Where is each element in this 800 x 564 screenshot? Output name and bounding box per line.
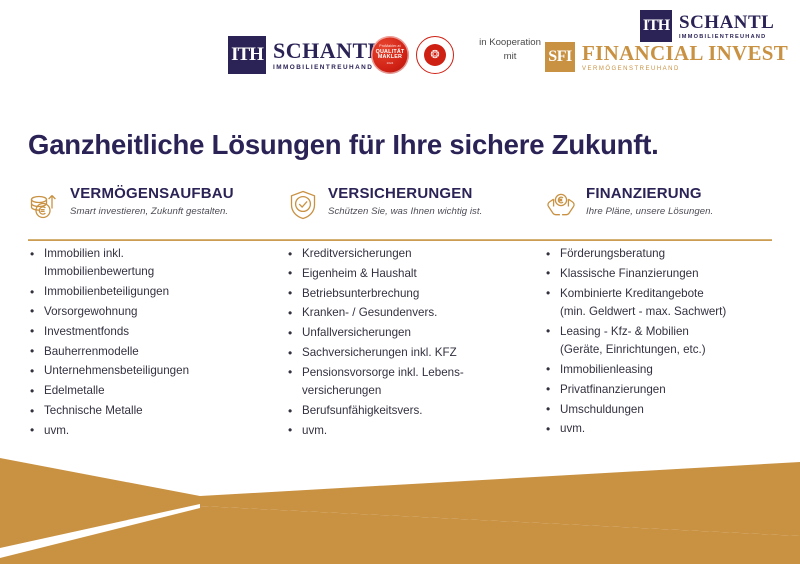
list-item: Leasing - Kfz- & Mobilien (Geräte, Einri… [544,323,796,360]
list-item-line: Leasing - Kfz- & Mobilien [560,325,689,338]
list-item: Förderungsberatung [544,245,796,263]
list-item-line: uvm. [44,424,69,437]
column-header: FINANZIERUNG Ihre Pläne, unsere Lösungen… [544,186,796,228]
list-item-line: Edelmetalle [44,384,105,397]
list-item: Eigenheim & Haushalt [286,265,538,283]
column-finanzierung: FINANZIERUNG Ihre Pläne, unsere Lösungen… [544,186,796,442]
footer-band: Office Wien: Passauer Platz 6 1010 Wien … [0,440,800,564]
sfi-monogram-icon: SFI [545,42,575,72]
footer-shape-decoration [0,440,800,564]
logo-ith-schantl-main: ITH SCHANTL IMMOBILIENTREUHAND [228,36,383,74]
list-item: Kombinierte Kreditangebote (min. Geldwer… [544,285,796,322]
shield-check-icon [286,188,320,222]
column-tagline: Ihre Pläne, unsere Lösungen. [586,206,713,217]
quality-broker-seal-icon: ProMakler.at QUALITÄT MAKLER 2024 [371,36,409,74]
flyer-page: ITH SCHANTL IMMOBILIENTREUHAND ProMakler… [0,0,800,564]
wko-seal-icon: ❂ [416,36,454,74]
column-header: VERSICHERUNGEN Schützen Sie, was Ihnen w… [286,186,538,228]
column-title: VERMÖGENSAUFBAU [70,186,234,203]
column-versicherungen: VERSICHERUNGEN Schützen Sie, was Ihnen w… [286,186,538,442]
list-item: Immobilienleasing [544,361,796,379]
logo-ith-schantl-corner: ITH SCHANTL IMMOBILIENTREUHAND [640,10,774,42]
list-item: Unternehmensbeteiligungen [28,362,280,380]
list-item-line: uvm. [560,422,585,435]
column-title-block: FINANZIERUNG Ihre Pläne, unsere Lösungen… [586,186,713,217]
service-list: Kreditversicherungen Eigenheim & Haushal… [286,245,538,440]
list-item-line: Unternehmensbeteiligungen [44,364,189,377]
list-item-line: Sachversicherungen inkl. KFZ [302,346,457,359]
ith-monogram-corner-icon: ITH [640,10,672,42]
column-title: FINANZIERUNG [586,186,713,203]
column-header: VERMÖGENSAUFBAU Smart investieren, Zukun… [28,186,280,228]
column-title-block: VERMÖGENSAUFBAU Smart investieren, Zukun… [70,186,234,217]
column-tagline: Smart investieren, Zukunft gestalten. [70,206,234,217]
list-item-line: Technische Metalle [44,404,143,417]
ith-brand-name-corner: SCHANTL [679,13,774,32]
list-item: Edelmetalle [28,382,280,400]
header-logo-bar: ITH SCHANTL IMMOBILIENTREUHAND ProMakler… [0,0,800,108]
list-item: Technische Metalle [28,402,280,420]
service-list: Förderungsberatung Klassische Finanzieru… [544,245,796,439]
list-item: Sachversicherungen inkl. KFZ [286,344,538,362]
list-item: uvm. [544,420,796,438]
list-item: Immobilien inkl. Immobilienbewertung [28,245,280,282]
ith-brand-subtitle: IMMOBILIENTREUHAND [273,64,383,71]
list-item-line: Immobilienbeteiligungen [44,285,169,298]
services-columns: VERMÖGENSAUFBAU Smart investieren, Zukun… [0,186,800,442]
cooperation-label: in Kooperation mit [478,36,542,63]
ith-wordmark-corner: SCHANTL IMMOBILIENTREUHAND [679,13,774,40]
list-item-line: Privatfinanzierungen [560,383,666,396]
seal-top-label: ProMakler.at [379,45,400,49]
seal-bottom-label: 2024 [387,62,394,65]
list-item: Immobilienbeteiligungen [28,283,280,301]
list-item-line: Immobilien inkl. [44,247,124,260]
list-item: uvm. [28,422,280,440]
column-title: VERSICHERUNGEN [328,186,482,203]
list-item: uvm. [286,422,538,440]
list-item-line: Vorsorgewohnung [44,305,137,318]
list-item-line: Berufsunfähigkeitsvers. [302,404,423,417]
sfi-brand-name: FINANCIAL INVEST [582,43,788,64]
list-item: Berufsunfähigkeitsvers. [286,402,538,420]
list-item-line-2: Immobilienbewertung [44,263,280,281]
sfi-wordmark: FINANCIAL INVEST VERMÖGENSTREUHAND [582,43,788,72]
list-item-line: Pensionsvorsorge inkl. Lebens- [302,366,464,379]
list-item-line-2: versicherungen [302,382,538,400]
list-item-line: Kranken- / Gesundenvers. [302,306,437,319]
list-item-line: uvm. [302,424,327,437]
list-item-line: Eigenheim & Haushalt [302,267,417,280]
list-item-line: Bauherrenmodelle [44,345,139,358]
list-item-line-2: (min. Geldwert - max. Sachwert) [560,303,796,321]
list-item: Unfallversicherungen [286,324,538,342]
list-item: Pensionsvorsorge inkl. Lebens- versicher… [286,364,538,401]
list-item: Kreditversicherungen [286,245,538,263]
column-title-block: VERSICHERUNGEN Schützen Sie, was Ihnen w… [328,186,482,217]
logo-sfi-financial-invest: SFI FINANCIAL INVEST VERMÖGENSTREUHAND [545,42,788,72]
ith-wordmark: SCHANTL IMMOBILIENTREUHAND [273,40,383,71]
list-item-line: Immobilienleasing [560,363,653,376]
list-item: Bauherrenmodelle [28,343,280,361]
list-item-line: Unfallversicherungen [302,326,411,339]
page-headline: Ganzheitliche Lösungen für Ihre sichere … [28,129,659,161]
service-list: Immobilien inkl. Immobilienbewertung Imm… [28,245,280,440]
list-item-line: Förderungsberatung [560,247,665,260]
list-item-line: Klassische Finanzierungen [560,267,699,280]
ith-brand-subtitle-corner: IMMOBILIENTREUHAND [679,34,774,40]
list-item: Privatfinanzierungen [544,381,796,399]
list-item-line: Umschuldungen [560,403,644,416]
ith-brand-name: SCHANTL [273,40,383,62]
list-item: Umschuldungen [544,401,796,419]
list-item: Betriebsunterbrechung [286,285,538,303]
list-item: Investmentfonds [28,323,280,341]
list-item: Klassische Finanzierungen [544,265,796,283]
list-item: Vorsorgewohnung [28,303,280,321]
sfi-brand-subtitle: VERMÖGENSTREUHAND [582,66,788,72]
ith-monogram-icon: ITH [228,36,266,74]
column-tagline: Schützen Sie, was Ihnen wichtig ist. [328,206,482,217]
hands-coin-euro-icon [544,188,578,222]
wko-seal-emblem-icon: ❂ [424,44,446,66]
list-item: Kranken- / Gesundenvers. [286,304,538,322]
list-item-line: Kreditversicherungen [302,247,412,260]
list-item-line: Betriebsunterbrechung [302,287,419,300]
list-item-line-2: (Geräte, Einrichtungen, etc.) [560,341,796,359]
list-item-line: Investmentfonds [44,325,129,338]
list-item-line: Kombinierte Kreditangebote [560,287,704,300]
coins-euro-growth-icon [28,188,62,222]
column-vermoegensaufbau: VERMÖGENSAUFBAU Smart investieren, Zukun… [28,186,280,442]
